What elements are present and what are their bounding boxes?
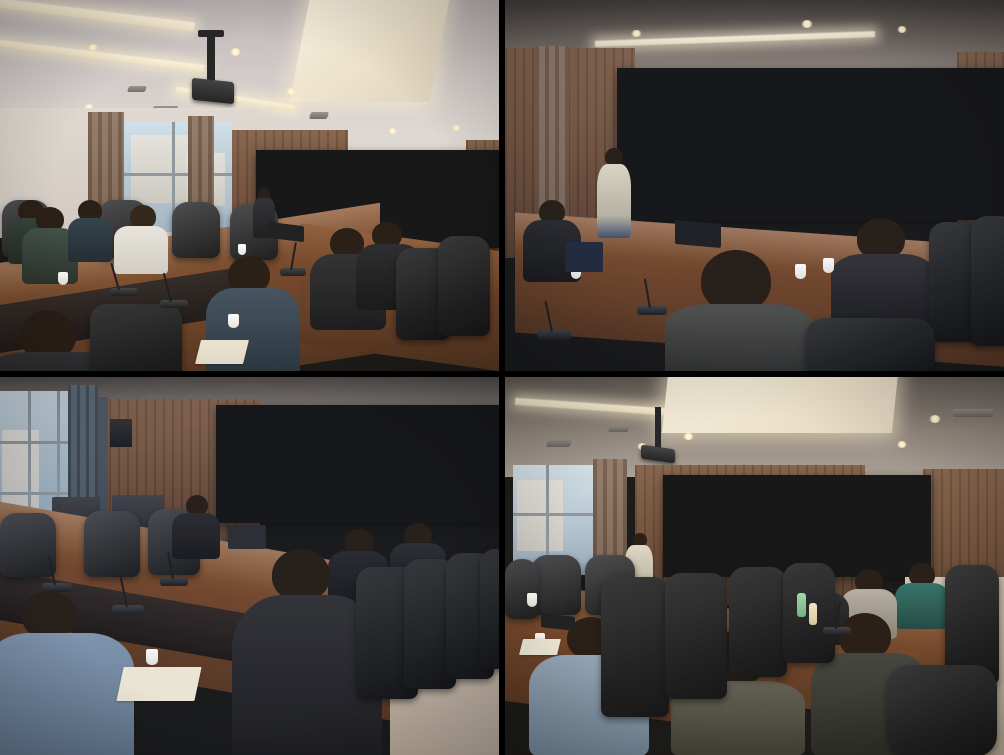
paper-cup[interactable]: [58, 272, 68, 285]
person-body-back: [665, 304, 813, 374]
scene-top-left: 山西工业学院 学术报告 南方科技大学 气候变化对青藏高原地下水的影响 汇报人：罗…: [0, 0, 499, 371]
notebook[interactable]: [195, 340, 249, 364]
downlight: [897, 26, 907, 33]
microphone-base[interactable]: [160, 577, 188, 586]
downlight: [801, 20, 813, 28]
person-body: [895, 583, 949, 629]
photo-bottom-left[interactable]: 污水排放数据和驱动数据来源 EIT 宁波东方理工大学 大湾区污水处理厂分布图 高…: [0, 374, 502, 755]
air-vent: [309, 112, 329, 119]
curtain: [535, 46, 569, 216]
downlight: [897, 441, 907, 448]
chair[interactable]: [971, 216, 1004, 346]
downlight: [388, 128, 397, 134]
chair[interactable]: [887, 665, 997, 755]
chair[interactable]: [505, 559, 539, 619]
scene-bottom-left: 污水排放数据和驱动数据来源 EIT 宁波东方理工大学 大湾区污水处理厂分布图 高…: [0, 377, 499, 755]
downlight: [286, 88, 296, 95]
led-video-wall[interactable]: 污水排放数据和驱动数据来源 EIT 宁波东方理工大学 大湾区污水处理厂分布图 高…: [216, 405, 502, 523]
person-body: [68, 218, 112, 262]
speaker-box: [110, 419, 132, 447]
water-bottle[interactable]: [797, 593, 806, 617]
water-bottle-2[interactable]: [809, 603, 817, 625]
scene-bottom-right: 香港大学地理系 Agent change Carbon stock Displa…: [505, 377, 1004, 755]
led-video-wall[interactable]: 香港大学地理系 Agent change Carbon stock Displa…: [663, 475, 931, 577]
projector: [192, 78, 234, 104]
microphone-base[interactable]: [110, 288, 138, 296]
laptop[interactable]: [675, 220, 721, 248]
air-vent: [127, 86, 147, 92]
chair[interactable]: [805, 318, 935, 374]
chair[interactable]: [480, 549, 502, 669]
air-vent: [546, 439, 573, 447]
led-video-wall[interactable]: 1.含水层非均质性与反常运移 超弥散的控制机理 超弥散来自含水介质中的优先水流通…: [617, 68, 1004, 220]
chair[interactable]: [0, 513, 56, 577]
ceiling-light-panel: [662, 374, 898, 433]
chair[interactable]: [438, 236, 490, 336]
presenter-body: [597, 164, 631, 238]
chair[interactable]: [729, 567, 787, 677]
microphone-base[interactable]: [637, 306, 667, 315]
open-notebook[interactable]: [116, 667, 201, 701]
chair[interactable]: [84, 511, 140, 577]
projector-mount: [655, 407, 661, 449]
microphone-base[interactable]: [112, 605, 144, 615]
projector-mount: [207, 32, 215, 82]
laptop[interactable]: [228, 525, 266, 549]
photo-bottom-right[interactable]: 香港大学地理系 Agent change Carbon stock Displa…: [502, 374, 1004, 755]
document[interactable]: [519, 639, 561, 655]
downlight: [929, 415, 941, 423]
paper-cup[interactable]: [146, 649, 158, 665]
microphone-base[interactable]: [280, 268, 306, 276]
laptop-screen[interactable]: [565, 242, 603, 272]
downlight: [631, 30, 642, 37]
projector-mount-plate: [198, 30, 224, 37]
person-head-back: [272, 549, 330, 601]
photo-top-right[interactable]: 1.含水层非均质性与反常运移 超弥散的控制机理 超弥散来自含水介质中的优先水流通…: [502, 0, 1004, 374]
paper-cup[interactable]: [795, 264, 806, 279]
person-body-back: [0, 633, 134, 755]
downlight: [452, 125, 461, 131]
downlight: [683, 433, 694, 440]
chair[interactable]: [90, 304, 182, 374]
downlight: [230, 48, 241, 56]
microphone-base[interactable]: [160, 300, 188, 308]
paper-cup[interactable]: [238, 244, 246, 255]
photo-collage: 山西工业学院 学术报告 南方科技大学 气候变化对青藏高原地下水的影响 汇报人：罗…: [0, 0, 1004, 755]
chair[interactable]: [601, 577, 669, 717]
person-body-back: [831, 254, 935, 324]
window-mullion: [122, 173, 232, 176]
microphone-base[interactable]: [537, 330, 571, 340]
paper-cup[interactable]: [527, 593, 537, 607]
photo-top-left[interactable]: 山西工业学院 学术报告 南方科技大学 气候变化对青藏高原地下水的影响 汇报人：罗…: [0, 0, 502, 374]
paper-cup[interactable]: [228, 314, 239, 328]
scene-top-right: 1.含水层非均质性与反常运移 超弥散的控制机理 超弥散来自含水介质中的优先水流通…: [505, 0, 1004, 371]
person-head-back: [701, 250, 771, 312]
person-body: [114, 226, 168, 274]
downlight: [88, 44, 98, 51]
ceiling-light-panel: [290, 0, 451, 102]
presenter-body: [172, 513, 220, 559]
paper-cup[interactable]: [823, 258, 834, 273]
building-outside: [131, 135, 188, 203]
chair[interactable]: [172, 202, 220, 258]
microphone-base[interactable]: [42, 583, 72, 592]
person-head-back: [22, 591, 76, 639]
air-vent: [608, 425, 630, 432]
chair[interactable]: [665, 573, 727, 699]
air-vent: [953, 409, 993, 417]
